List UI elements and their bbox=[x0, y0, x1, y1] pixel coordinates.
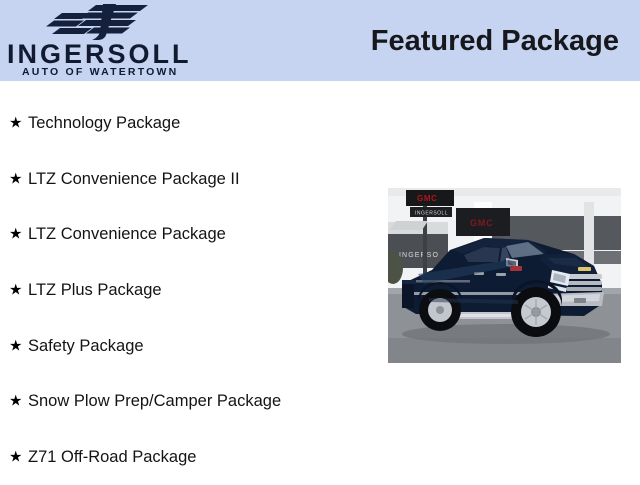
list-item[interactable]: ★Technology Package bbox=[0, 95, 370, 151]
page-header: INGERSOLL AUTO OF WATERTOWN Featured Pac… bbox=[0, 0, 640, 81]
package-name: Technology Package bbox=[28, 113, 180, 133]
list-item[interactable]: ★LTZ Convenience Package II bbox=[0, 151, 370, 207]
svg-text:GMC: GMC bbox=[470, 218, 493, 228]
dealer-subwordmark: AUTO OF WATERTOWN bbox=[22, 67, 202, 78]
svg-text:INGERSOLL: INGERSOLL bbox=[415, 211, 448, 217]
package-name: LTZ Plus Package bbox=[28, 280, 162, 300]
star-bullet-icon: ★ bbox=[9, 171, 22, 186]
package-name: Safety Package bbox=[28, 336, 144, 356]
package-name: LTZ Convenience Package II bbox=[28, 169, 240, 189]
package-name: Z71 Off-Road Package bbox=[28, 447, 196, 467]
star-bullet-icon: ★ bbox=[9, 115, 22, 130]
vehicle-photo: INGERSO GMC INGERSOLL GMC bbox=[388, 188, 621, 363]
ingersoll-winged-emblem-icon bbox=[44, 4, 156, 42]
featured-package-list: ★Technology Package★LTZ Convenience Pack… bbox=[0, 95, 370, 485]
star-bullet-icon: ★ bbox=[9, 282, 22, 297]
svg-text:GMC: GMC bbox=[417, 194, 437, 203]
list-item[interactable]: ★Snow Plow Prep/Camper Package bbox=[0, 373, 370, 429]
list-item[interactable]: ★LTZ Plus Package bbox=[0, 262, 370, 318]
package-name: LTZ Convenience Package bbox=[28, 224, 226, 244]
star-bullet-icon: ★ bbox=[9, 338, 22, 353]
package-name: Snow Plow Prep/Camper Package bbox=[28, 391, 281, 411]
dealer-brand-block: INGERSOLL AUTO OF WATERTOWN bbox=[0, 0, 210, 81]
star-bullet-icon: ★ bbox=[9, 394, 22, 409]
dealer-wordmark: INGERSOLL bbox=[7, 41, 197, 68]
star-bullet-icon: ★ bbox=[9, 227, 22, 242]
svg-text:INGERSO: INGERSO bbox=[399, 252, 439, 259]
list-item[interactable]: ★LTZ Convenience Package bbox=[0, 206, 370, 262]
list-item[interactable]: ★Z71 Off-Road Package bbox=[0, 429, 370, 485]
star-bullet-icon: ★ bbox=[9, 449, 22, 464]
list-item[interactable]: ★Safety Package bbox=[0, 318, 370, 374]
page-title: Featured Package bbox=[371, 24, 619, 58]
